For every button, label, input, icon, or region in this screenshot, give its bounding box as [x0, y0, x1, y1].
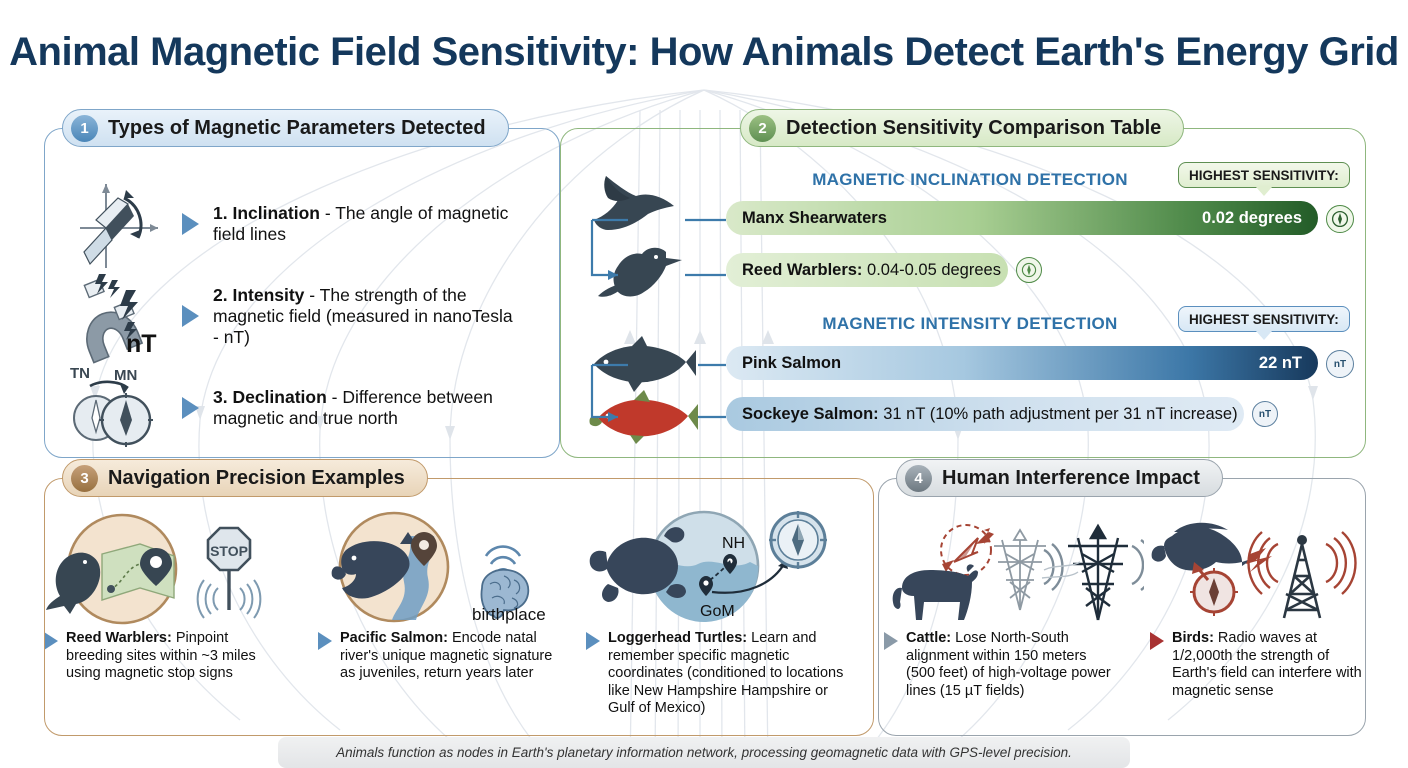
panel-3-title: Navigation Precision Examples — [108, 467, 405, 490]
panel-2-connectors — [580, 165, 1340, 440]
bird-map-stopsign-art: STOP — [40, 512, 270, 627]
panel-2-title: Detection Sensitivity Comparison Table — [786, 117, 1161, 140]
nh-label: NH — [722, 535, 745, 552]
salmon-river-brain-art: birthplace — [312, 510, 557, 628]
footer-caption: Animals function as nodes in Earth's pla… — [278, 737, 1130, 768]
panel-4-title: Human Interference Impact — [942, 467, 1200, 490]
turtle-ocean-compass-art: NH GoM — [586, 508, 836, 628]
panel-2-header: 2 Detection Sensitivity Comparison Table — [740, 109, 1184, 147]
panel-2-number-badge: 2 — [749, 115, 776, 142]
panel-3-header: 3 Navigation Precision Examples — [62, 459, 428, 497]
panel-types-of-magnetic-parameters: 1 Types of Magnetic Parameters Detected — [44, 128, 560, 458]
stop-sign-label: STOP — [210, 543, 248, 559]
cattle-powerlines-art — [884, 510, 1144, 630]
panel-1-header: 1 Types of Magnetic Parameters Detected — [62, 109, 509, 147]
panel-3-number-badge: 3 — [71, 465, 98, 492]
panel-4-header: 4 Human Interference Impact — [896, 459, 1223, 497]
page-title: Animal Magnetic Field Sensitivity: How A… — [0, 30, 1408, 75]
bird-radio-tower-art — [1150, 510, 1380, 630]
infographic-root: Animal Magnetic Field Sensitivity: How A… — [0, 0, 1408, 768]
birthplace-label: birthplace — [472, 605, 546, 624]
panel-1-title: Types of Magnetic Parameters Detected — [108, 117, 486, 140]
panel-4-number-badge: 4 — [905, 465, 932, 492]
panel-1-number-badge: 1 — [71, 115, 98, 142]
panel-1-border — [44, 128, 560, 458]
gom-label: GoM — [700, 603, 735, 620]
